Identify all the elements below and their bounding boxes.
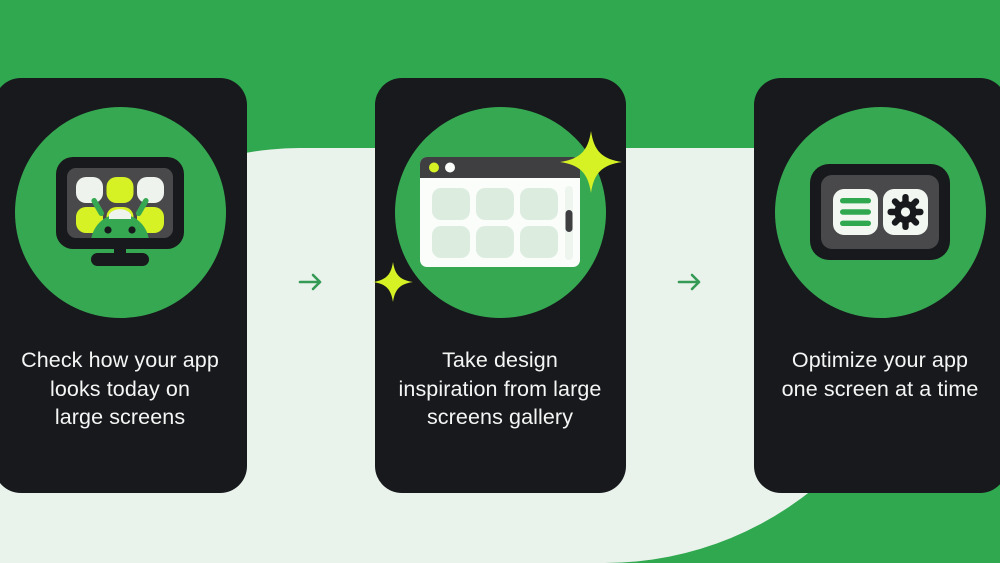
- slide-canvas: Check how your app looks today on large …: [0, 0, 1000, 563]
- card-optimize-app[interactable]: Optimize your app one screen at a time: [754, 78, 1000, 493]
- sparkle-small-icon: [373, 262, 413, 302]
- android-large-screen-monitor-icon: [52, 153, 188, 271]
- steps-row: Check how your app looks today on large …: [0, 0, 1000, 563]
- card-1-caption: Check how your app looks today on large …: [0, 346, 247, 432]
- card-3-caption: Optimize your app one screen at a time: [754, 346, 1000, 403]
- card-check-app[interactable]: Check how your app looks today on large …: [0, 78, 247, 493]
- card-3-icon-area: [754, 78, 1000, 346]
- arrow-right-icon-2: [675, 267, 705, 297]
- settings-panel-icon: [810, 164, 950, 260]
- card-2-icon-area: [374, 78, 627, 346]
- card-design-inspiration[interactable]: Take design inspiration from large scree…: [375, 78, 626, 493]
- card-1-icon-area: [0, 78, 247, 346]
- card-3-green-circle: [775, 107, 986, 318]
- gallery-window-icon: [420, 157, 580, 267]
- sparkle-large-icon: [560, 131, 622, 193]
- card-2-caption: Take design inspiration from large scree…: [375, 346, 626, 432]
- card-2-green-circle: [395, 107, 606, 318]
- arrow-right-icon-1: [296, 267, 326, 297]
- card-1-green-circle: [15, 107, 226, 318]
